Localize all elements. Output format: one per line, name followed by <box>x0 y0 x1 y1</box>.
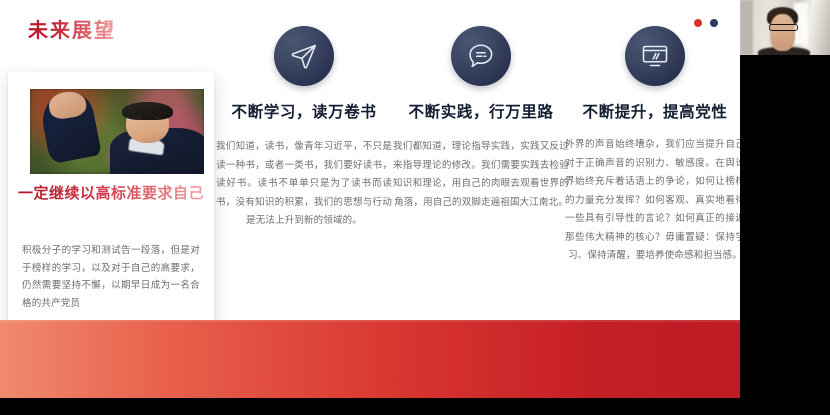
monitor-screen-icon <box>625 26 685 86</box>
letterbox-right <box>740 0 830 415</box>
presenter-camera[interactable] <box>740 0 830 55</box>
left-feature-card: 一定继续以高标准要求自己 积极分子的学习和测试告一段落，但是对于榜样的学习，以及… <box>8 72 214 352</box>
feature-column-2: 不断实践，行万里路 我们都知道，理论指导实践，实践又反过来指导理论的修改。我们需… <box>393 26 569 212</box>
card-body-text: 积极分子的学习和测试告一段落，但是对于榜样的学习，以及对于自己的高要求，仍然需要… <box>22 242 200 312</box>
speech-bubble-icon <box>451 26 511 86</box>
column-body-text: 我们知道，读书，像青年习近平，不只是读一种书，或者一类书，我们要好读书，读好书。… <box>216 138 392 231</box>
column-title: 不断实践，行万里路 <box>393 100 569 122</box>
feature-column-1: 不断学习，读万卷书 我们知道，读书，像青年习近平，不只是读一种书，或者一类书，我… <box>216 26 392 231</box>
presentation-slide: 未来展望 一定继续以高标准要求自己 积极分子的学习和测试告一段落，但是对于榜样的… <box>0 0 740 398</box>
leader-photo <box>30 89 204 174</box>
page-title: 未来展望 <box>28 14 116 43</box>
column-body-text: 我们都知道，理论指导实践，实践又反过来指导理论的修改。我们需要实践去检验知识和理… <box>393 138 569 212</box>
column-body-text: 外界的声音始终嘈杂，我们应当提升自己对于正确声音的识别力、敏感度。在舆论界始终充… <box>565 136 740 266</box>
send-plane-icon <box>274 26 334 86</box>
slide-bottom-band <box>0 320 740 398</box>
feature-column-3: 不断提升，提高党性 外界的声音始终嘈杂，我们应当提升自己对于正确声音的识别力、敏… <box>565 26 740 266</box>
letterbox-bottom <box>0 398 740 415</box>
card-subtitle: 一定继续以高标准要求自己 <box>18 184 204 203</box>
column-title: 不断学习，读万卷书 <box>216 100 392 122</box>
screen-root: 未来展望 一定继续以高标准要求自己 积极分子的学习和测试告一段落，但是对于榜样的… <box>0 0 830 415</box>
column-title: 不断提升，提高党性 <box>565 100 740 122</box>
